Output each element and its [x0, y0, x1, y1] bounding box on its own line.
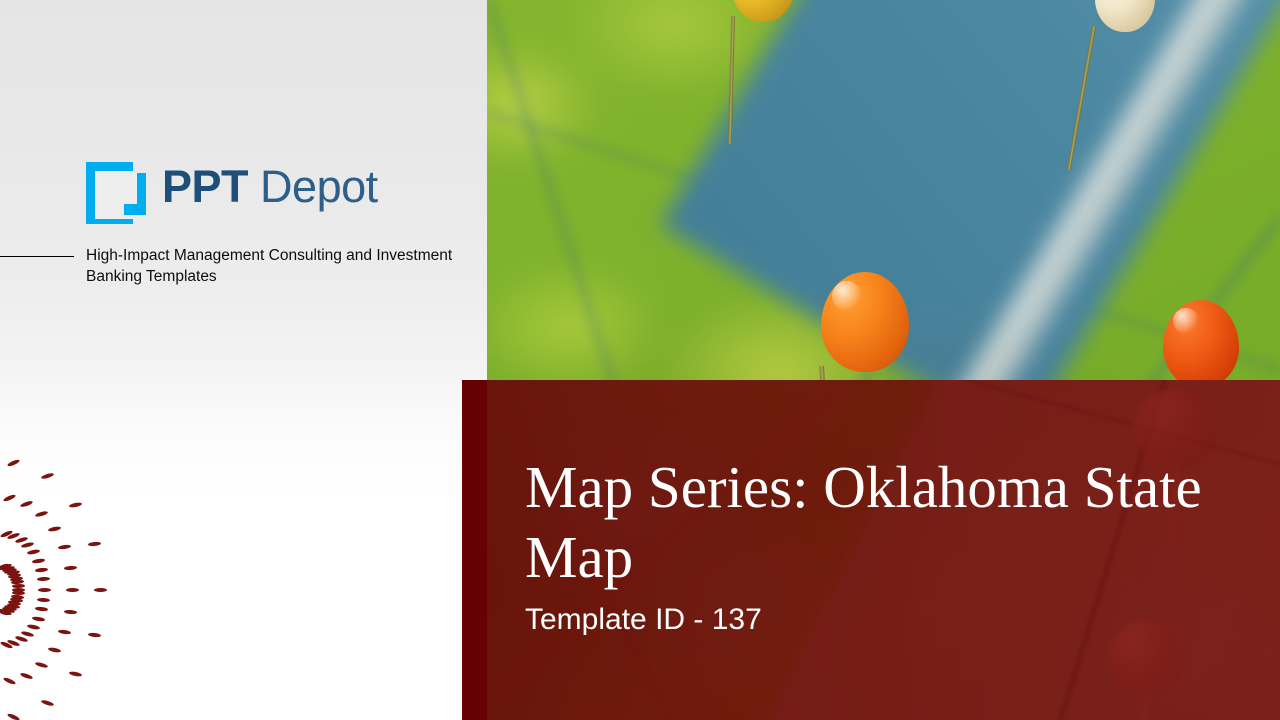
- pattern-dot: [38, 588, 51, 592]
- pattern-dot: [31, 616, 44, 622]
- pattern-dot: [6, 458, 20, 467]
- pattern-dot: [21, 542, 35, 549]
- pin-head: [821, 272, 909, 372]
- page-title: Map Series: Oklahoma State Map: [525, 452, 1245, 592]
- pattern-dot: [69, 502, 83, 509]
- pattern-dot: [31, 558, 44, 564]
- presentation-slide: PPT Depot High-Impact Management Consult…: [0, 0, 1280, 720]
- pattern-dot: [40, 473, 54, 481]
- pattern-dot: [58, 544, 71, 550]
- brand-wordmark: PPT Depot: [162, 162, 378, 210]
- pattern-dot: [37, 577, 50, 582]
- pattern-dot: [20, 499, 34, 507]
- pattern-dot: [87, 632, 100, 637]
- pattern-dot: [87, 542, 100, 547]
- pattern-dot: [64, 609, 77, 614]
- brand-name-light: Depot: [260, 161, 378, 212]
- pattern-dot: [66, 588, 79, 592]
- pattern-dot: [48, 525, 62, 532]
- pattern-dot: [3, 677, 17, 686]
- pattern-dot: [27, 623, 41, 630]
- brand-logo[interactable]: PPT Depot: [86, 162, 378, 224]
- brand-tagline: High-Impact Management Consulting and In…: [86, 245, 456, 287]
- pattern-dot: [3, 494, 17, 503]
- page-subtitle: Template ID - 137: [525, 602, 1245, 638]
- tagline-divider-rule: [0, 256, 74, 257]
- pattern-dot: [35, 510, 49, 517]
- pattern-dot: [35, 607, 48, 612]
- pattern-dot: [94, 588, 107, 592]
- ppt-depot-bracket-logo-icon: [86, 162, 146, 224]
- pattern-dot: [6, 712, 20, 720]
- pattern-dot: [64, 565, 77, 570]
- half-circle-dot-pattern: [0, 455, 110, 720]
- pattern-dot: [20, 671, 34, 679]
- pattern-dot: [27, 549, 41, 556]
- pattern-dot: [35, 567, 48, 572]
- pattern-dot: [69, 671, 83, 678]
- pattern-dot: [48, 647, 62, 654]
- pattern-dot: [21, 630, 35, 637]
- title-overlay-panel: Map Series: Oklahoma State Map Template …: [487, 380, 1280, 720]
- brand-name-bold: PPT: [162, 161, 248, 212]
- pattern-dot: [35, 662, 49, 669]
- title-accent-bar: [462, 380, 487, 720]
- pin-head: [1163, 300, 1239, 388]
- pattern-dot: [40, 699, 54, 707]
- title-text-group: Map Series: Oklahoma State Map Template …: [525, 452, 1245, 638]
- pattern-dot: [37, 597, 50, 602]
- pattern-dot: [58, 629, 71, 635]
